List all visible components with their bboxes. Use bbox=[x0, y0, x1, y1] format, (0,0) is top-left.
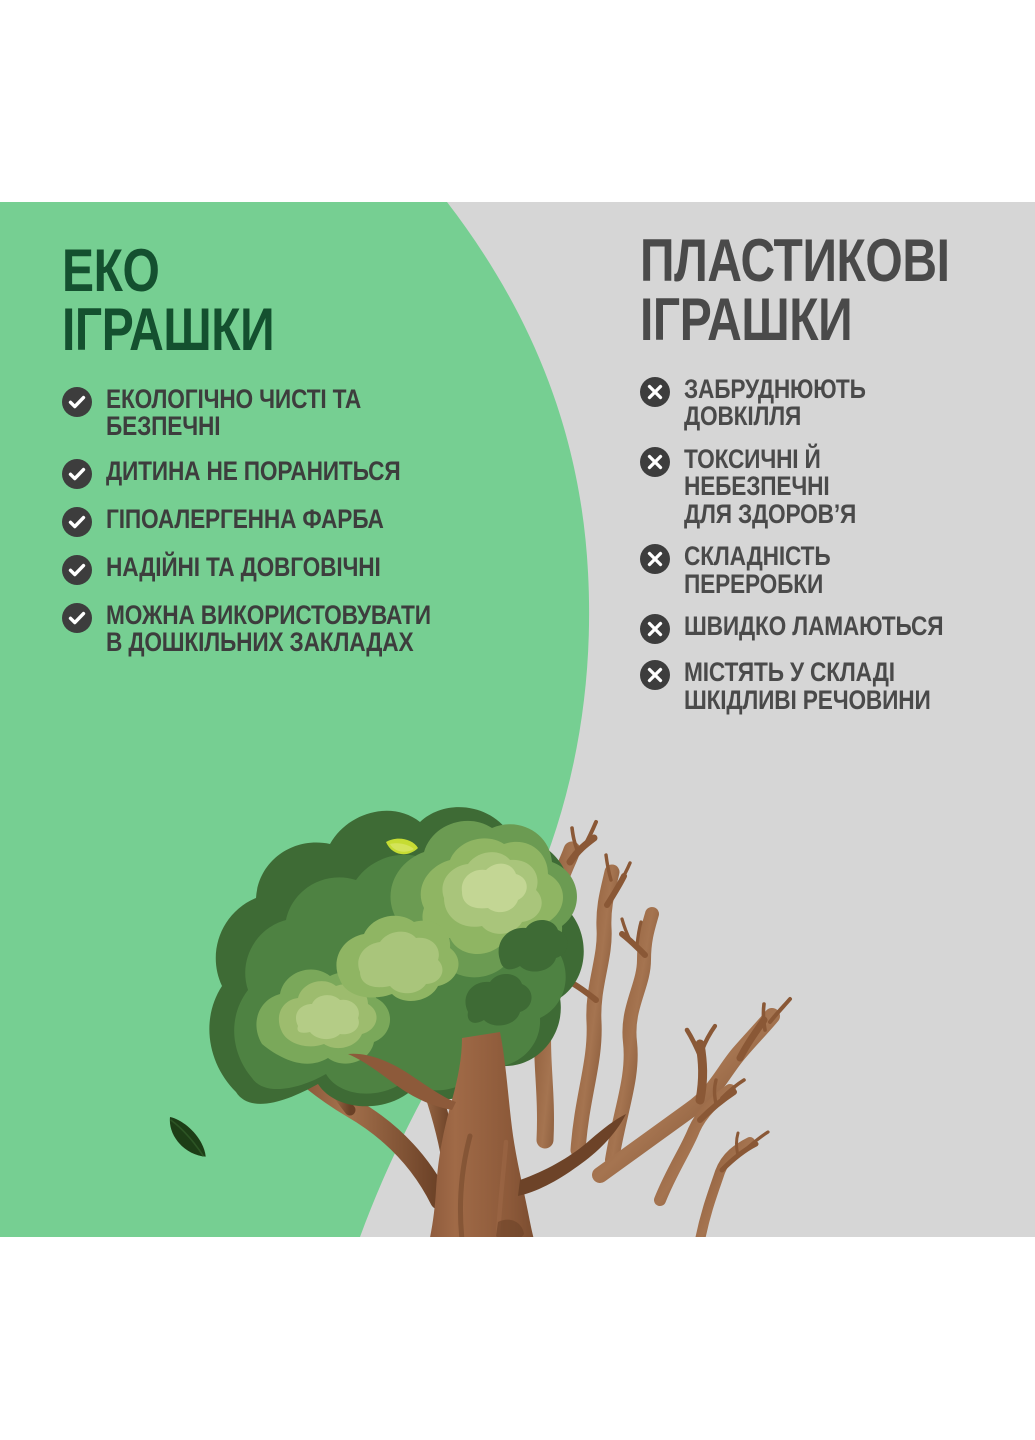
eco-feature-list: ЕКОЛОГІЧНО ЧИСТІ ТА БЕЗПЕЧНІ ДИТИНА НЕ П… bbox=[62, 386, 542, 657]
list-item: МОЖНА ВИКОРИСТОВУВАТИ В ДОШКІЛЬНИХ ЗАКЛА… bbox=[62, 602, 542, 657]
list-item-label: ДИТИНА НЕ ПОРАНИТЬСЯ bbox=[106, 458, 472, 486]
cross-circle-icon bbox=[640, 660, 670, 690]
list-item-label: МОЖНА ВИКОРИСТОВУВАТИ В ДОШКІЛЬНИХ ЗАКЛА… bbox=[106, 602, 472, 657]
list-item: ДИТИНА НЕ ПОРАНИТЬСЯ bbox=[62, 458, 542, 489]
check-circle-icon bbox=[62, 507, 92, 537]
cross-circle-icon bbox=[640, 614, 670, 644]
list-item-label: ШВИДКО ЛАМАЮТЬСЯ bbox=[684, 613, 966, 641]
list-item-label: СКЛАДНІСТЬ ПЕРЕРОБКИ bbox=[684, 543, 966, 598]
list-item-label: ЗАБРУДНЮЮТЬ ДОВКІЛЛЯ bbox=[684, 376, 966, 431]
content-band: ЕКО ІГРАШКИ ЕКОЛОГІЧНО ЧИСТІ ТА БЕЗПЕЧНІ bbox=[0, 202, 1035, 1237]
eco-heading: ЕКО ІГРАШКИ bbox=[62, 242, 446, 360]
list-item: МІСТЯТЬ У СКЛАДІ ШКІДЛИВІ РЕЧОВИНИ bbox=[640, 659, 1020, 714]
list-item: ЕКОЛОГІЧНО ЧИСТІ ТА БЕЗПЕЧНІ bbox=[62, 386, 542, 441]
check-circle-icon bbox=[62, 459, 92, 489]
list-item-label: НАДІЙНІ ТА ДОВГОВІЧНІ bbox=[106, 554, 472, 582]
check-circle-icon bbox=[62, 603, 92, 633]
list-item-label: МІСТЯТЬ У СКЛАДІ ШКІДЛИВІ РЕЧОВИНИ bbox=[684, 659, 966, 714]
cross-circle-icon bbox=[640, 447, 670, 477]
plastic-heading: ПЛАСТИКОВІ ІГРАШКИ bbox=[640, 232, 944, 350]
poster-root: ЕКО ІГРАШКИ ЕКОЛОГІЧНО ЧИСТІ ТА БЕЗПЕЧНІ bbox=[0, 0, 1035, 1440]
list-item: ШВИДКО ЛАМАЮТЬСЯ bbox=[640, 613, 1020, 644]
check-circle-icon bbox=[62, 555, 92, 585]
list-item: НАДІЙНІ ТА ДОВГОВІЧНІ bbox=[62, 554, 542, 585]
list-item-label: ГІПОАЛЕРГЕННА ФАРБА bbox=[106, 506, 472, 534]
cross-circle-icon bbox=[640, 544, 670, 574]
list-item-label: ТОКСИЧНІ Й НЕБЕЗПЕЧНІ ДЛЯ ЗДОРОВ’Я bbox=[684, 446, 966, 529]
plastic-feature-list: ЗАБРУДНЮЮТЬ ДОВКІЛЛЯ ТОКСИЧНІ Й НЕБЕЗПЕЧ… bbox=[640, 376, 1020, 715]
eco-column: ЕКО ІГРАШКИ ЕКОЛОГІЧНО ЧИСТІ ТА БЕЗПЕЧНІ bbox=[62, 242, 542, 674]
list-item: ЗАБРУДНЮЮТЬ ДОВКІЛЛЯ bbox=[640, 376, 1020, 431]
list-item: ГІПОАЛЕРГЕННА ФАРБА bbox=[62, 506, 542, 537]
plastic-column: ПЛАСТИКОВІ ІГРАШКИ ЗАБРУДНЮЮТЬ ДОВКІЛЛЯ bbox=[640, 232, 1020, 729]
list-item: ТОКСИЧНІ Й НЕБЕЗПЕЧНІ ДЛЯ ЗДОРОВ’Я bbox=[640, 446, 1020, 529]
list-item-label: ЕКОЛОГІЧНО ЧИСТІ ТА БЕЗПЕЧНІ bbox=[106, 386, 472, 441]
cross-circle-icon bbox=[640, 377, 670, 407]
list-item: СКЛАДНІСТЬ ПЕРЕРОБКИ bbox=[640, 543, 1020, 598]
check-circle-icon bbox=[62, 387, 92, 417]
